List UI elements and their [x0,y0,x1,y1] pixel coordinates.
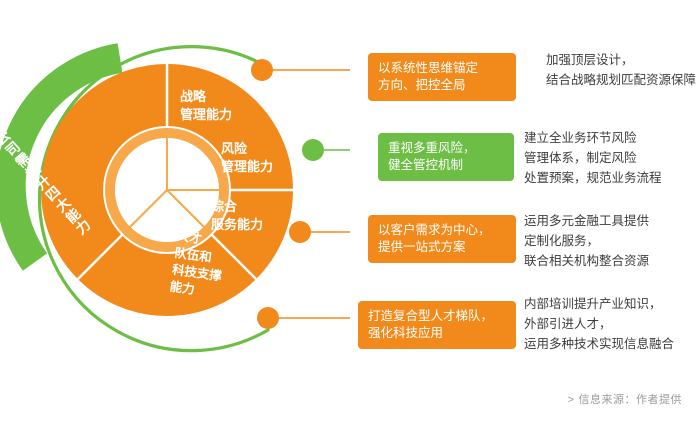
circular-diagram: 某某公司需提升四大能力 战略 管理能力 风险 管理能力 综合 服务能力 人才 队… [0,0,350,421]
segment-label-4: 人才 队伍和 科技支撑 能力 [169,228,242,304]
description-1: 加强顶层设计， 结合战略规划匹配资源保障 [546,50,696,90]
callout-box-4[interactable]: 打造复合型人才梯队， 强化科技应用 [358,301,516,349]
source-text: 信息来源：作者提供 [579,394,683,406]
outer-arc-label: 某某公司需提升四大能力 [30,83,150,298]
description-4: 内部培训提升产业知识， 外部引进人才， 运用多种技术实现信息融合 [524,294,700,354]
segment-label-3: 综合 服务能力 [211,198,301,234]
segment-label-1: 战略 管理能力 [180,88,266,124]
callout-box-2[interactable]: 重视多重风险， 健全管控机制 [378,133,514,181]
segment-label-2: 风险 管理能力 [221,140,307,176]
source-note: >信息来源：作者提供 [568,391,682,407]
infographic-root: 某某公司需提升四大能力 战略 管理能力 风险 管理能力 综合 服务能力 人才 队… [0,0,700,421]
connector-dot-4 [257,307,279,329]
callout-box-1[interactable]: 以系统性思维锚定 方向、把控全局 [368,53,516,101]
chevron-right-icon: > [568,394,575,406]
connector-dot-1 [251,59,273,81]
description-2: 建立全业务环节风险 管理体系，制定风险 处置预案，规范业务流程 [524,128,696,188]
description-3: 运用多元金融工具提供 定制化服务， 联合相关机构整合资源 [524,211,696,271]
callout-box-3[interactable]: 以客户需求为中心， 提供一站式方案 [368,215,516,263]
